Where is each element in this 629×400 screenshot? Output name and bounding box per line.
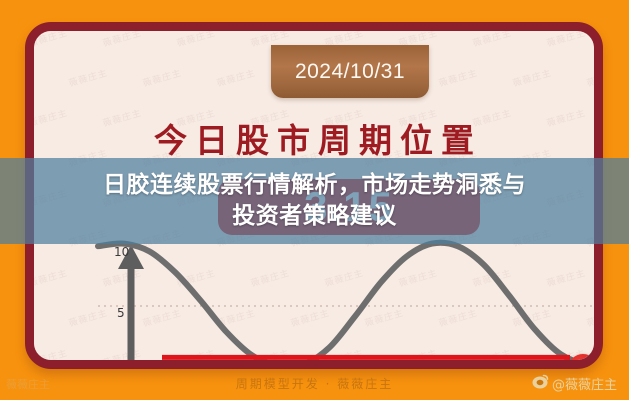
date-badge: 2024/10/31 (271, 45, 429, 98)
watermark-tile: 薇薇庄主 (471, 31, 513, 49)
watermark-tile: 薇薇庄主 (585, 66, 594, 90)
cycle-curve (98, 243, 594, 360)
page-title: 今日股市周期位置 (34, 114, 594, 162)
caption-text: 日胶连续股票行情解析，市场走势洞悉与 投资者策略建议 (35, 170, 595, 232)
watermark-tile: 薇薇庄主 (67, 66, 109, 90)
watermark-tile: 薇薇庄主 (101, 31, 143, 49)
y-tick-5: 5 (117, 306, 125, 320)
watermark-tile: 薇薇庄主 (437, 66, 479, 90)
caption-line-2: 投资者策略建议 (232, 203, 397, 229)
watermark-tile: 薇薇庄主 (215, 66, 257, 90)
watermark-tile: 薇薇庄主 (34, 31, 69, 49)
watermark-tile: 薇薇庄主 (175, 31, 217, 49)
watermark-tile: 薇薇庄主 (511, 66, 553, 90)
cycle-chart: 10 5 0 (34, 227, 594, 360)
poster-canvas: 薇薇庄主薇薇庄主薇薇庄主薇薇庄主薇薇庄主薇薇庄主薇薇庄主薇薇庄主薇薇庄主薇薇庄主… (0, 0, 629, 400)
caption-line-1: 日胶连续股票行情解析，市场走势洞悉与 (103, 172, 526, 198)
footer-bar: 薇薇庄主 周期模型开发 · 薇薇庄主 @薇薇庄主 (0, 368, 629, 400)
watermark-tile: 薇薇庄主 (141, 66, 183, 90)
weibo-handle-text: @薇薇庄主 (552, 374, 617, 393)
watermark-tile: 薇薇庄主 (545, 31, 587, 49)
y-axis-arrow-icon (118, 245, 144, 360)
weibo-eye-icon (532, 374, 549, 393)
y-tick-10: 10 (114, 245, 129, 259)
caption-overlay-band: 日胶连续股票行情解析，市场走势洞悉与 投资者策略建议 (0, 158, 629, 244)
weibo-handle[interactable]: @薇薇庄主 (532, 374, 617, 393)
watermark-tile: 薇薇庄主 (34, 66, 35, 90)
